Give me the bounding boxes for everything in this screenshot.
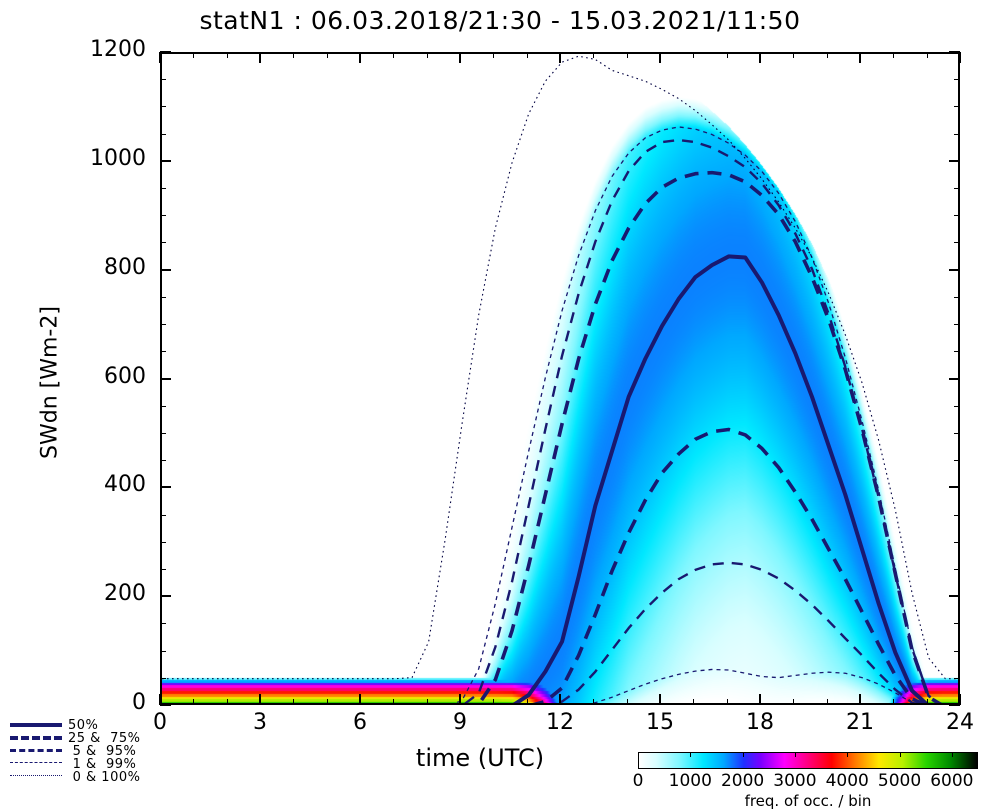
tick-mark xyxy=(693,52,694,58)
percentile-curve-99pct xyxy=(162,127,960,705)
tick-mark xyxy=(954,188,960,189)
tick-mark xyxy=(160,324,166,325)
tick-mark xyxy=(160,242,166,243)
tick-mark xyxy=(954,242,960,243)
tick-mark xyxy=(160,134,166,135)
tick-mark xyxy=(959,52,961,63)
percentile-legend: 50%25 & 75% 5 & 95% 1 & 99% 0 & 100% xyxy=(4,718,154,783)
tick-mark xyxy=(160,51,171,53)
tick-mark xyxy=(160,160,171,162)
y-tick-label: 800 xyxy=(104,255,146,280)
tick-mark xyxy=(160,460,166,461)
tick-mark xyxy=(160,678,166,679)
tick-mark xyxy=(160,269,171,271)
tick-mark xyxy=(159,52,161,63)
tick-mark xyxy=(559,694,561,705)
tick-mark xyxy=(954,623,960,624)
legend-row: 1 & 99% xyxy=(4,757,154,770)
tick-mark xyxy=(160,297,166,298)
tick-mark xyxy=(159,694,161,705)
legend-row: 50% xyxy=(4,718,154,731)
tick-mark xyxy=(759,52,761,63)
tick-mark xyxy=(859,52,861,63)
chart-title: statN1 : 06.03.2018/21:30 - 15.03.2021/1… xyxy=(0,6,1000,35)
tick-mark xyxy=(293,699,294,705)
tick-mark xyxy=(954,106,960,107)
legend-line-swatch xyxy=(10,749,62,752)
x-tick-label: 18 xyxy=(725,710,795,735)
tick-mark xyxy=(160,351,166,352)
tick-mark xyxy=(949,595,960,597)
tick-mark xyxy=(627,699,628,705)
x-tick-label: 6 xyxy=(325,710,395,735)
chart-figure: statN1 : 06.03.2018/21:30 - 15.03.2021/1… xyxy=(0,0,1000,800)
tick-mark xyxy=(954,433,960,434)
tick-mark xyxy=(954,79,960,80)
colorbar-title: freq. of occ. / bin xyxy=(638,792,978,810)
tick-mark xyxy=(160,215,166,216)
tick-mark xyxy=(493,52,494,58)
y-tick-label: 600 xyxy=(104,364,146,389)
tick-mark xyxy=(259,52,261,63)
tick-mark xyxy=(459,52,461,63)
tick-mark xyxy=(827,699,828,705)
tick-mark xyxy=(954,215,960,216)
tick-mark xyxy=(193,699,194,705)
tick-mark xyxy=(160,188,166,189)
tick-mark xyxy=(693,699,694,705)
tick-mark xyxy=(949,269,960,271)
percentile-curve-5pct xyxy=(162,563,960,705)
tick-mark xyxy=(393,52,394,58)
legend-row: 25 & 75% xyxy=(4,731,154,744)
tick-mark xyxy=(927,52,928,58)
tick-mark xyxy=(359,694,361,705)
legend-line-swatch xyxy=(10,775,62,776)
tick-mark xyxy=(160,515,166,516)
tick-mark xyxy=(593,699,594,705)
tick-mark xyxy=(893,52,894,58)
tick-mark xyxy=(954,134,960,135)
tick-mark xyxy=(859,694,861,705)
tick-mark xyxy=(227,52,228,58)
x-tick-label: 9 xyxy=(425,710,495,735)
tick-mark xyxy=(193,52,194,58)
tick-mark xyxy=(359,52,361,63)
percentile-curve-100pct xyxy=(162,56,960,679)
tick-mark xyxy=(954,569,960,570)
percentile-curve-1pct xyxy=(162,669,960,705)
tick-mark xyxy=(927,699,928,705)
tick-mark xyxy=(327,52,328,58)
tick-mark xyxy=(827,52,828,58)
tick-mark xyxy=(949,486,960,488)
tick-mark xyxy=(954,651,960,652)
colorbar-tick xyxy=(743,752,744,757)
y-tick-label: 400 xyxy=(104,472,146,497)
tick-mark xyxy=(527,699,528,705)
tick-mark xyxy=(160,486,171,488)
legend-line-swatch xyxy=(10,762,62,763)
legend-line-swatch xyxy=(10,736,62,740)
tick-mark xyxy=(959,694,961,705)
tick-mark xyxy=(727,52,728,58)
colorbar-tick xyxy=(847,752,848,757)
colorbar-tick xyxy=(952,752,953,757)
legend-line-swatch xyxy=(10,723,62,727)
legend-label: 0 & 100% xyxy=(68,770,140,785)
tick-mark xyxy=(954,406,960,407)
tick-mark xyxy=(793,699,794,705)
tick-mark xyxy=(293,52,294,58)
tick-mark xyxy=(627,52,628,58)
tick-mark xyxy=(954,460,960,461)
tick-mark xyxy=(659,694,661,705)
percentile-curve-95pct xyxy=(162,140,960,705)
percentile-curve-25pct xyxy=(162,429,960,705)
y-tick-label: 200 xyxy=(104,581,146,606)
tick-mark xyxy=(393,699,394,705)
x-tick-label: 21 xyxy=(825,710,895,735)
tick-mark xyxy=(160,651,166,652)
tick-mark xyxy=(593,52,594,58)
x-tick-label: 12 xyxy=(525,710,595,735)
tick-mark xyxy=(493,699,494,705)
colorbar-tick xyxy=(900,752,901,757)
tick-mark xyxy=(160,79,166,80)
tick-mark xyxy=(793,52,794,58)
tick-mark xyxy=(949,160,960,162)
tick-mark xyxy=(954,324,960,325)
tick-mark xyxy=(459,694,461,705)
tick-mark xyxy=(160,595,171,597)
y-tick-label: 1000 xyxy=(90,146,146,171)
legend-row: 5 & 95% xyxy=(4,744,154,757)
plot-area xyxy=(160,52,960,705)
colorbar xyxy=(638,752,978,769)
tick-mark xyxy=(427,699,428,705)
tick-mark xyxy=(527,52,528,58)
tick-mark xyxy=(327,699,328,705)
y-tick-label: 1200 xyxy=(90,37,146,62)
colorbar-group: 0100020003000400050006000 freq. of occ. … xyxy=(638,752,978,769)
tick-mark xyxy=(427,52,428,58)
tick-mark xyxy=(954,542,960,543)
tick-mark xyxy=(727,699,728,705)
percentile-curve-75pct xyxy=(162,173,960,705)
tick-mark xyxy=(759,694,761,705)
colorbar-tick xyxy=(795,752,796,757)
percentile-curve-50pct xyxy=(162,256,960,705)
tick-mark xyxy=(893,699,894,705)
tick-mark xyxy=(160,569,166,570)
tick-mark xyxy=(160,704,171,706)
tick-mark xyxy=(160,106,166,107)
y-axis-title: SWdn [Wm-2] xyxy=(38,103,63,663)
tick-mark xyxy=(954,297,960,298)
x-tick-label: 15 xyxy=(625,710,695,735)
tick-mark xyxy=(659,52,661,63)
tick-mark xyxy=(227,699,228,705)
tick-mark xyxy=(160,433,166,434)
colorbar-tick-label: 6000 xyxy=(917,771,987,791)
legend-row: 0 & 100% xyxy=(4,770,154,783)
tick-mark xyxy=(160,378,171,380)
x-tick-label: 24 xyxy=(925,710,995,735)
tick-mark xyxy=(954,678,960,679)
x-tick-label: 3 xyxy=(225,710,295,735)
tick-mark xyxy=(949,378,960,380)
tick-mark xyxy=(954,351,960,352)
colorbar-tick xyxy=(690,752,691,757)
tick-mark xyxy=(160,542,166,543)
tick-mark xyxy=(160,623,166,624)
tick-mark xyxy=(954,515,960,516)
tick-mark xyxy=(160,406,166,407)
tick-mark xyxy=(559,52,561,63)
percentile-curves xyxy=(162,54,960,705)
tick-mark xyxy=(259,694,261,705)
x-axis-title: time (UTC) xyxy=(300,744,660,772)
